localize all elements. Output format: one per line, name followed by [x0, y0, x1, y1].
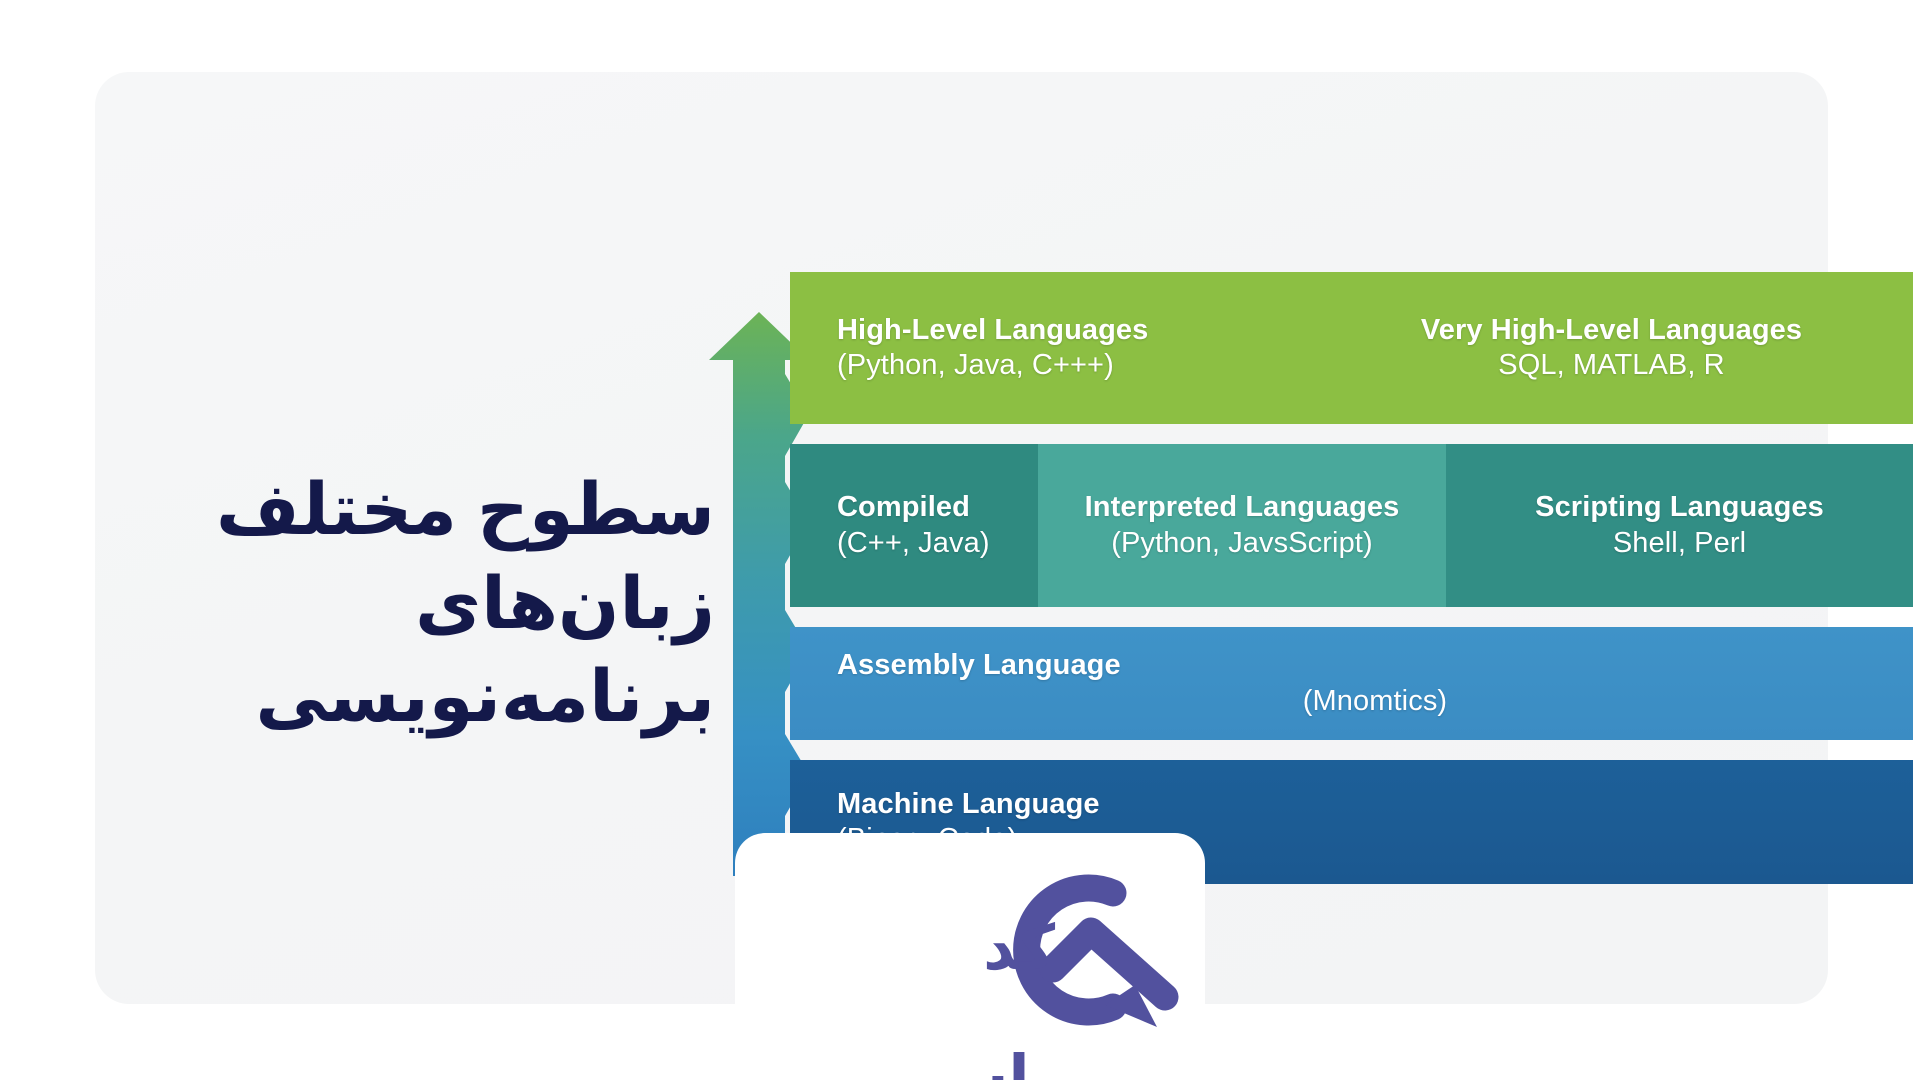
cell-title: Compiled	[837, 490, 970, 525]
cell-subtitle: (C++, Java)	[837, 526, 990, 561]
language-level-stack: High-Level Languages (Python, Java, C+++…	[790, 272, 1913, 884]
logo-line-2: یاس	[923, 1044, 1055, 1080]
cell-subtitle: Shell, Perl	[1613, 526, 1746, 561]
cell-title: Very High-Level Languages	[1421, 313, 1802, 348]
logo-wordmark: کد یاس	[805, 851, 1055, 1080]
cell-very-high-level-languages: Very High-Level Languages SQL, MATLAB, R	[1310, 272, 1913, 424]
cell-compiled: Compiled (C++, Java)	[790, 444, 1038, 607]
screenshot-root: سطوح مختلف زبان‌های برنامه‌نویسی	[0, 0, 1920, 1080]
logo-panel: کد یاس	[735, 833, 1205, 1063]
cell-subtitle: (Python, JavsScript)	[1111, 526, 1372, 561]
cell-title: Assembly Language	[837, 648, 1913, 683]
cell-title: Scripting Languages	[1535, 490, 1824, 525]
cell-subtitle: SQL, MATLAB, R	[1498, 348, 1724, 383]
cell-title: Machine Language	[837, 787, 1100, 822]
cell-high-level-languages: High-Level Languages (Python, Java, C+++…	[790, 272, 1310, 424]
cell-assembly-language: Assembly Language (Mnomtics)	[790, 627, 1913, 740]
cell-title: High-Level Languages	[837, 313, 1148, 348]
cell-subtitle: (Mnomtics)	[837, 684, 1913, 719]
cell-interpreted-languages: Interpreted Languages (Python, JavsScrip…	[1038, 444, 1446, 607]
row-high-level: High-Level Languages (Python, Java, C+++…	[790, 272, 1913, 424]
page-title: سطوح مختلف زبان‌های برنامه‌نویسی	[215, 464, 715, 745]
logo-line-1: کد	[983, 914, 1055, 983]
cell-subtitle: (Python, Java, C+++)	[837, 348, 1114, 383]
cell-scripting-languages: Scripting Languages Shell, Perl	[1446, 444, 1913, 607]
row-mid-level: Compiled (C++, Java) Interpreted Languag…	[790, 444, 1913, 607]
cell-title: Interpreted Languages	[1085, 490, 1400, 525]
row-assembly: Assembly Language (Mnomtics)	[790, 627, 1913, 740]
